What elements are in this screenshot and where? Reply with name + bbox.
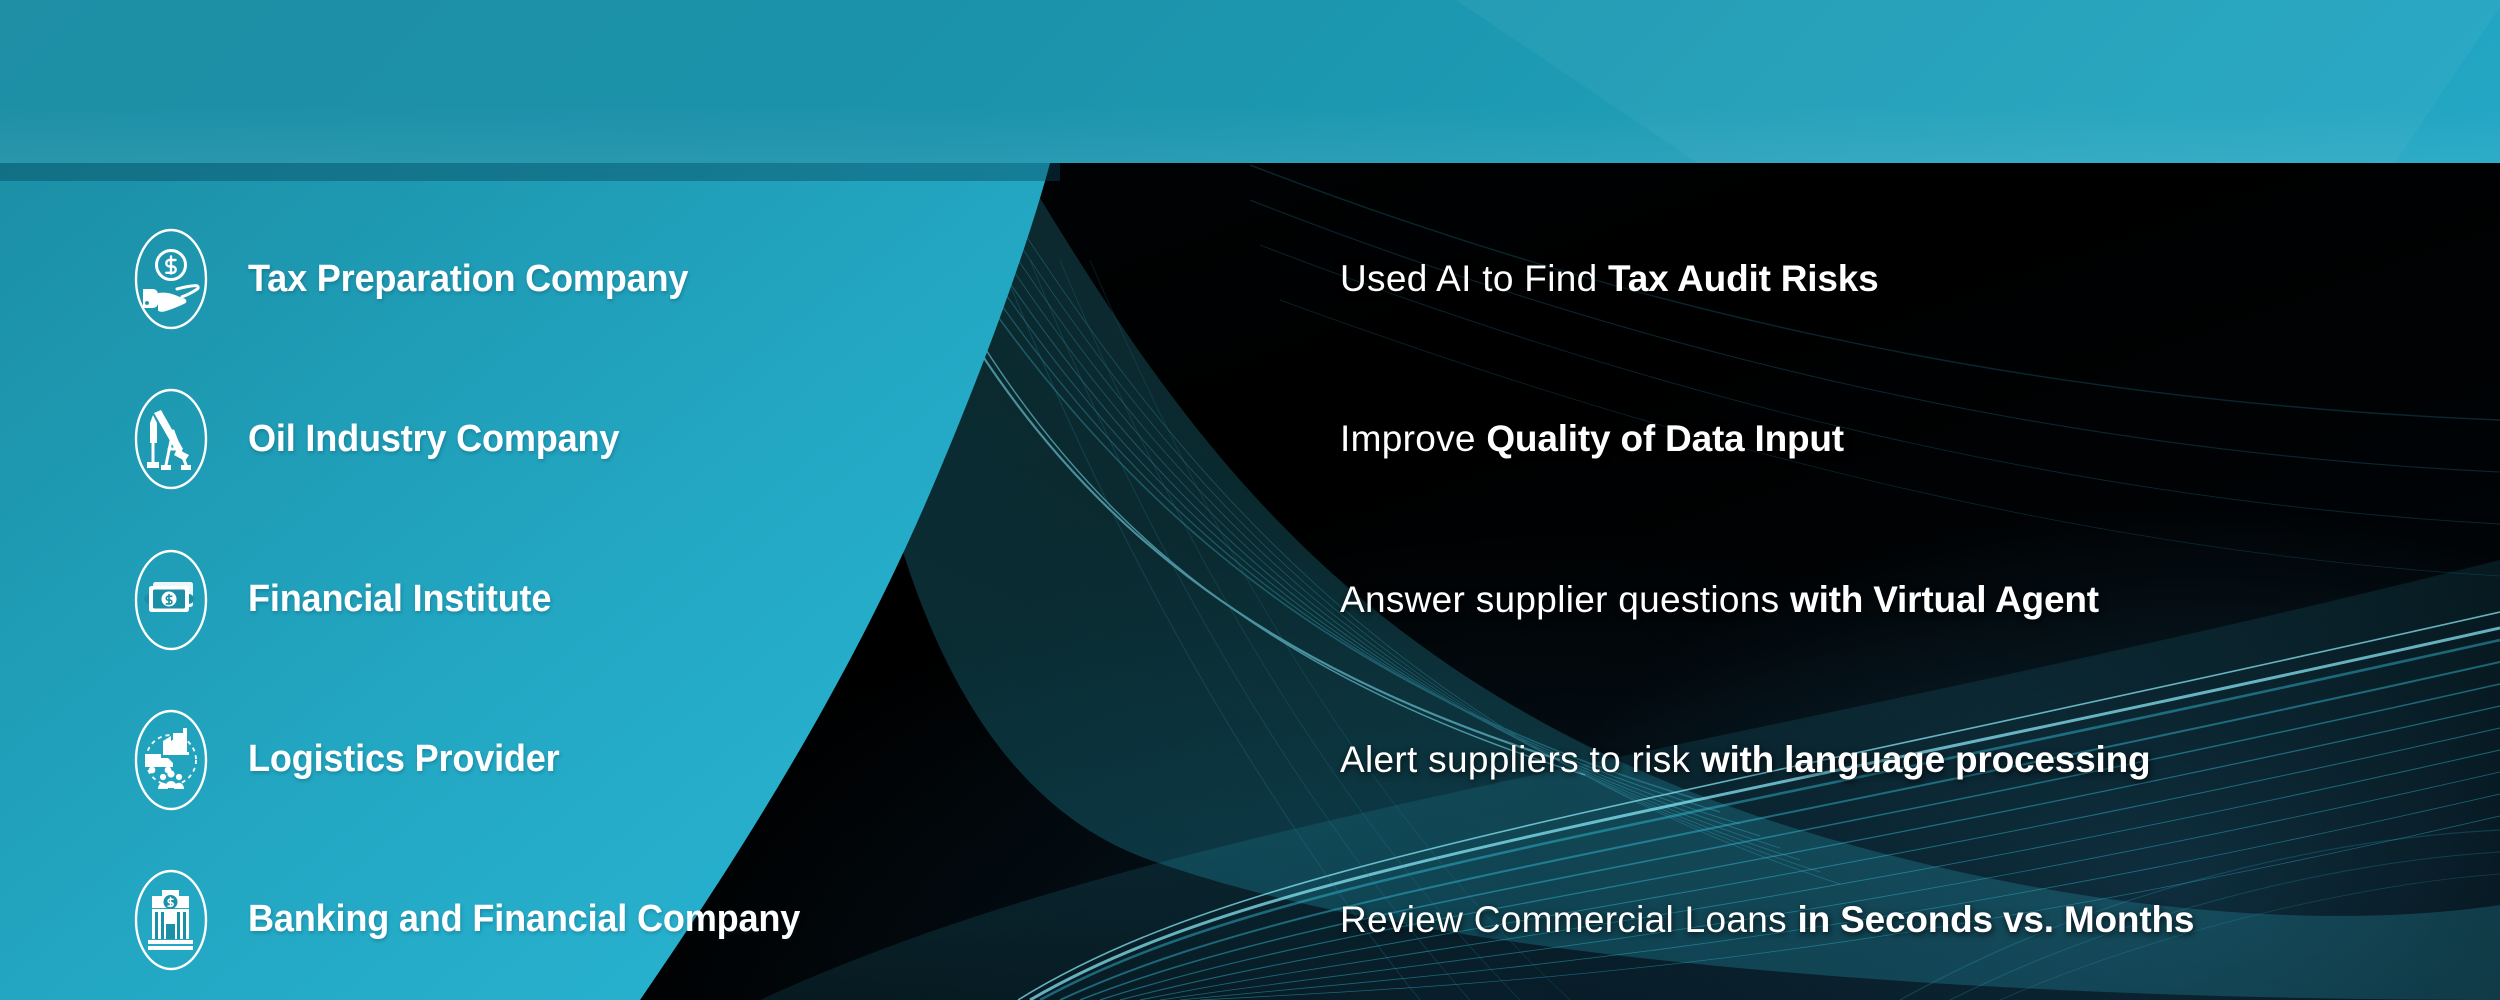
list-item-label: Logistics Provider xyxy=(248,738,560,781)
list-item[interactable]: Banking and Financial Company xyxy=(0,840,1060,1000)
application-prefix: Answer supplier questions xyxy=(1340,579,1790,620)
application-prefix: Alert suppliers to risk xyxy=(1340,739,1701,780)
application-text: Answer supplier questions with Virtual A… xyxy=(1340,579,2099,621)
list-item[interactable]: Tax Preparation Company xyxy=(0,199,1060,359)
list-item[interactable]: Alert suppliers to risk with language pr… xyxy=(1340,680,2500,840)
list-item-label: Financial Institute xyxy=(248,578,551,621)
application-text: Review Commercial Loans in Seconds vs. M… xyxy=(1340,899,2194,941)
application-text: Improve Quality of Data Input xyxy=(1340,418,1844,460)
application-emphasis: Quality of Data Input xyxy=(1486,418,1844,459)
application-emphasis: in Seconds vs. Months xyxy=(1798,899,2195,940)
application-list: Used AI to Find Tax Audit Risks Improve … xyxy=(1340,163,2500,1000)
list-item[interactable]: Oil Industry Company xyxy=(0,359,1060,519)
application-emphasis: with language processing xyxy=(1701,739,2151,780)
header-sheen xyxy=(0,105,2500,163)
list-item[interactable]: Review Commercial Loans in Seconds vs. M… xyxy=(1340,840,2500,1000)
application-emphasis: with Virtual Agent xyxy=(1790,579,2099,620)
header-band xyxy=(0,0,2500,163)
banknote-dollar-icon xyxy=(133,548,209,652)
list-item-label: Banking and Financial Company xyxy=(248,898,800,941)
application-prefix: Improve xyxy=(1340,418,1486,459)
oil-pumpjack-icon xyxy=(133,387,209,491)
list-item[interactable]: Logistics Provider xyxy=(0,680,1060,840)
application-emphasis: Tax Audit Risks xyxy=(1608,258,1878,299)
truck-factory-people-icon xyxy=(133,708,209,812)
application-text: Alert suppliers to risk with language pr… xyxy=(1340,739,2150,781)
bank-building-icon xyxy=(133,868,209,972)
list-item-label: Tax Preparation Company xyxy=(248,258,688,301)
list-item[interactable]: Used AI to Find Tax Audit Risks xyxy=(1340,199,2500,359)
list-item[interactable]: Improve Quality of Data Input xyxy=(1340,359,2500,519)
application-prefix: Review Commercial Loans xyxy=(1340,899,1798,940)
hand-holding-dollar-icon xyxy=(133,227,209,331)
company-list: Tax Preparation Company Oil Industry Com… xyxy=(0,163,1060,1000)
slide-root: Automation Real World Applications Tax P… xyxy=(0,0,2500,1000)
list-item[interactable]: Answer supplier questions with Virtual A… xyxy=(1340,519,2500,679)
application-text: Used AI to Find Tax Audit Risks xyxy=(1340,258,1879,300)
list-item-label: Oil Industry Company xyxy=(248,418,619,461)
application-prefix: Used AI to Find xyxy=(1340,258,1608,299)
list-item[interactable]: Financial Institute xyxy=(0,519,1060,679)
